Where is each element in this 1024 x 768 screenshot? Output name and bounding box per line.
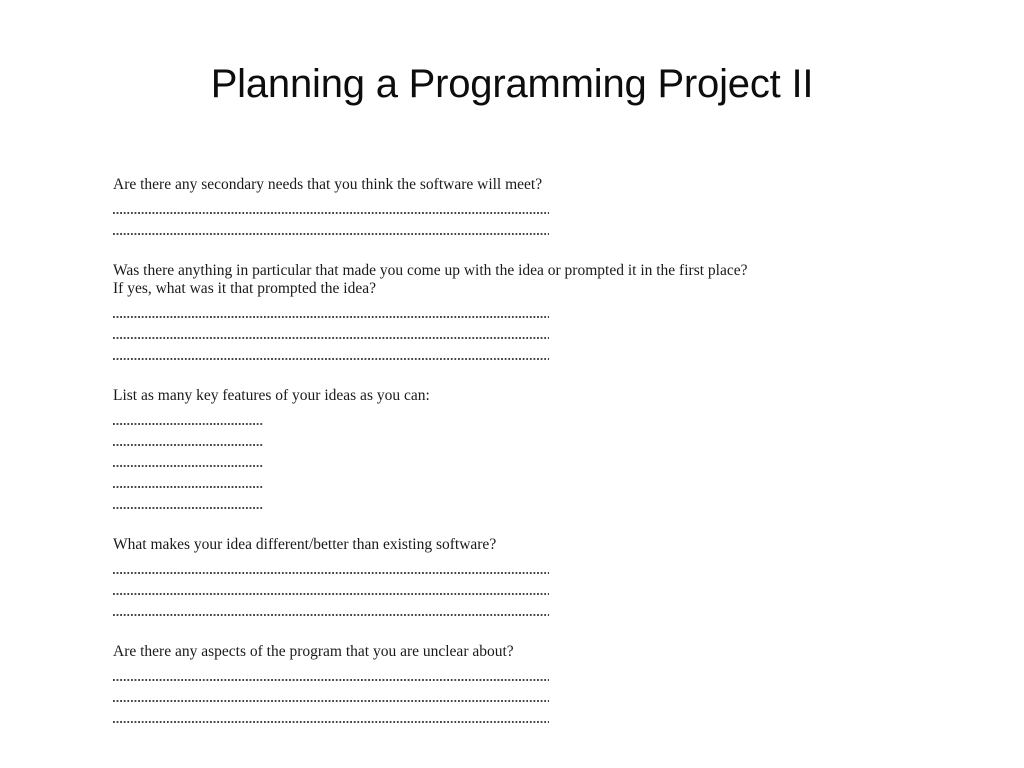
answer-line[interactable] [113,349,913,370]
question-text-line1: Are there any aspects of the program tha… [113,643,514,660]
answer-line[interactable] [113,605,913,626]
answer-line[interactable] [113,691,913,712]
answer-lines-group [113,203,913,245]
question-text: What makes your idea different/better th… [113,536,913,554]
answer-line[interactable] [113,307,913,328]
answer-lines-group [113,670,913,733]
question-text-line1: Are there any secondary needs that you t… [113,176,542,193]
answer-line[interactable] [113,498,913,519]
answer-line[interactable] [113,670,913,691]
question-block: Are there any aspects of the program tha… [113,643,913,733]
question-text: Are there any aspects of the program tha… [113,643,913,661]
question-text-line1: Was there anything in particular that ma… [113,262,747,279]
answer-line[interactable] [113,203,913,224]
question-text: Are there any secondary needs that you t… [113,176,913,194]
answer-lines-group [113,307,913,370]
answer-line[interactable] [113,456,913,477]
answer-lines-group [113,563,913,626]
answer-line[interactable] [113,224,913,245]
answer-line[interactable] [113,563,913,584]
answer-line[interactable] [113,584,913,605]
question-block: Are there any secondary needs that you t… [113,176,913,245]
question-text-line1: What makes your idea different/better th… [113,536,496,553]
question-text-line2: If yes, what was it that prompted the id… [113,280,913,298]
answer-line[interactable] [113,414,913,435]
question-text: List as many key features of your ideas … [113,387,913,405]
question-text-line1: List as many key features of your ideas … [113,387,430,404]
slide-canvas: Planning a Programming Project II Are th… [0,0,1024,768]
answer-line[interactable] [113,712,913,733]
question-block: What makes your idea different/better th… [113,536,913,626]
worksheet-body: Are there any secondary needs that you t… [113,176,913,733]
answer-line[interactable] [113,477,913,498]
question-block: List as many key features of your ideas … [113,387,913,519]
question-text: Was there anything in particular that ma… [113,262,913,298]
answer-line[interactable] [113,328,913,349]
question-block: Was there anything in particular that ma… [113,262,913,370]
answer-line[interactable] [113,435,913,456]
answer-lines-group [113,414,913,519]
page-title: Planning a Programming Project II [0,62,1024,106]
